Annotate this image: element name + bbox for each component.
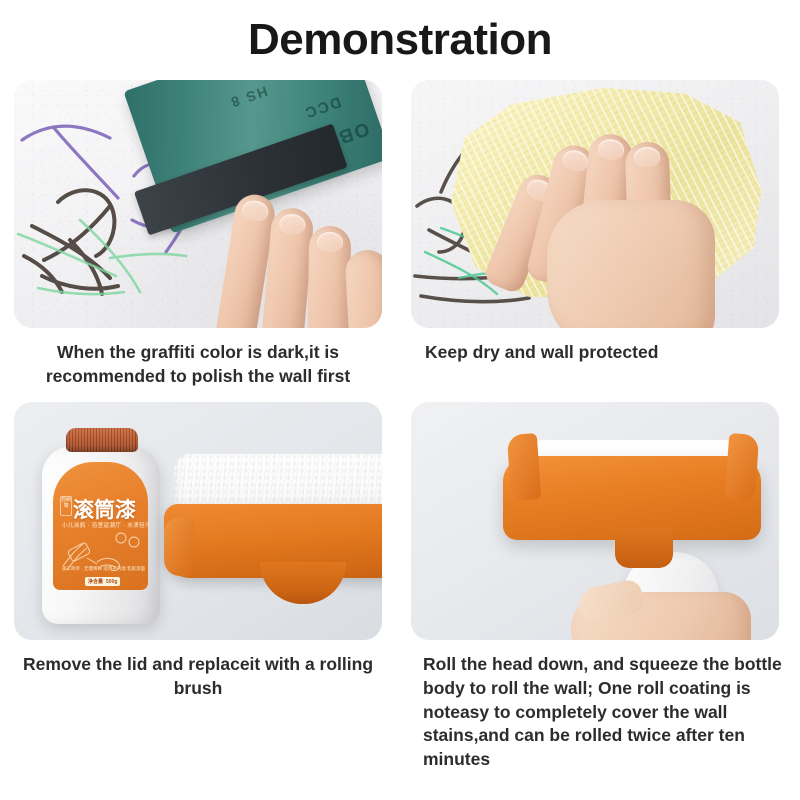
roller-cradle-lip: [164, 518, 194, 576]
cloth-wipe-photo: [411, 80, 779, 328]
palm: [547, 200, 715, 328]
fingernail: [597, 138, 625, 161]
weight-label: 净含量: [88, 578, 103, 585]
step-3-caption: Remove the lid and replaceit with a roll…: [14, 640, 382, 700]
finger-ring: [307, 226, 352, 328]
bottle-label: 自刷墙 滚筒漆 小儿涂鸦 · 浴室返潮厅 · 水渍轻污渍 · 水泥墙面修复: [53, 462, 148, 590]
demo-step-2: Keep dry and wall protected: [411, 80, 786, 388]
fingernail: [279, 213, 307, 235]
roller-stem: [260, 562, 346, 604]
rolling-wall-photo: [411, 402, 779, 640]
step-1-caption: When the graffiti color is dark,it is re…: [14, 328, 382, 388]
roller-cradle-lip-left: [507, 433, 542, 501]
label-side-tag: 自刷墙: [60, 496, 72, 516]
label-weight-badge: 净含量 500g: [85, 577, 120, 586]
bottle-cap: [66, 428, 138, 452]
sanding-block-photo: OBTAO DCC HS 8: [14, 80, 382, 328]
page-title: Demonstration: [0, 0, 800, 62]
demo-step-1: OBTAO DCC HS 8 When the graffiti col: [14, 80, 389, 388]
demonstration-grid: OBTAO DCC HS 8 When the graffiti col: [14, 62, 786, 771]
weight-value: 500g: [106, 579, 117, 585]
finger-pinky: [344, 249, 382, 328]
roller-stem: [615, 528, 673, 568]
hand: [499, 114, 729, 328]
sponge-print-line-3: HS 8: [227, 83, 269, 111]
hand: [208, 164, 382, 328]
demo-step-3: 自刷墙 滚筒漆 小儿涂鸦 · 浴室返潮厅 · 水渍轻污渍 · 水泥墙面修复: [14, 402, 389, 771]
fingernail: [317, 232, 343, 252]
paint-bottle: 自刷墙 滚筒漆 小儿涂鸦 · 浴室返潮厅 · 水渍轻污渍 · 水泥墙面修复: [42, 428, 160, 624]
fingernail: [634, 147, 661, 168]
step-2-caption: Keep dry and wall protected: [411, 328, 793, 365]
step-4-caption: Roll the head down, and squeeze the bott…: [411, 640, 791, 771]
roller-cradle-lip-right: [725, 433, 760, 501]
sponge-print-line-2: DCC: [301, 93, 343, 122]
roller-head: [503, 428, 763, 598]
label-headline: 滚筒漆: [73, 494, 136, 524]
bottle-and-roller-photo: 自刷墙 滚筒漆 小儿涂鸦 · 浴室返潮厅 · 水渍轻污渍 · 水泥墙面修复: [14, 402, 382, 640]
label-subline: 小儿涂鸦 · 浴室返潮厅 · 水渍轻污渍 · 水泥墙面修复: [62, 521, 148, 529]
label-footer: 施工简单 · 无需稀释 适用于内墙 乳胶漆面: [62, 566, 145, 573]
roller-head: [164, 454, 382, 610]
fingernail: [241, 199, 270, 223]
demo-step-4: Roll the head down, and squeeze the bott…: [411, 402, 786, 771]
